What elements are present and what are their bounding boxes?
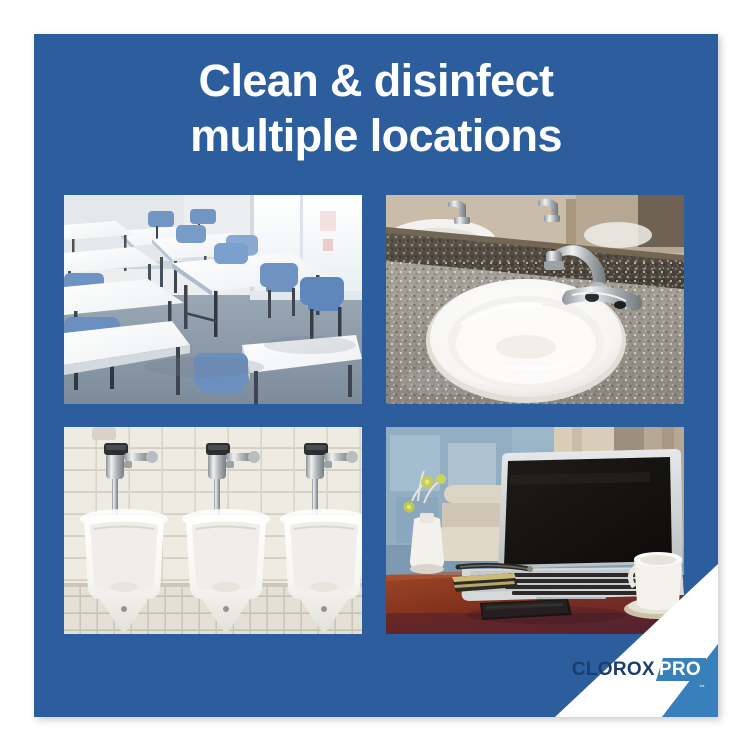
urinals-illustration [64,427,362,634]
office-illustration [386,427,684,634]
headline-line-1: Clean & disinfect [34,54,718,109]
headline-line-2: multiple locations [34,109,718,164]
logo-pro-badge: PRO [656,658,706,681]
bathroom-sink-photo [386,195,684,404]
logo-pro-text: PRO [659,659,701,680]
sink-illustration [386,195,684,404]
classroom-illustration [64,195,362,404]
cloroxpro-logo: CLOROX PRO [572,658,706,681]
poster-panel: Clean & disinfect multiple locations [34,34,718,717]
urinals-photo [64,427,362,634]
classroom-photo [64,195,362,404]
office-desk-photo [386,427,684,634]
logo-clorox-wordmark: CLOROX [572,658,656,681]
trademark-symbol: ™ [699,685,705,691]
poster-canvas: Clean & disinfect multiple locations [0,0,750,750]
page-title: Clean & disinfect multiple locations [34,54,718,164]
